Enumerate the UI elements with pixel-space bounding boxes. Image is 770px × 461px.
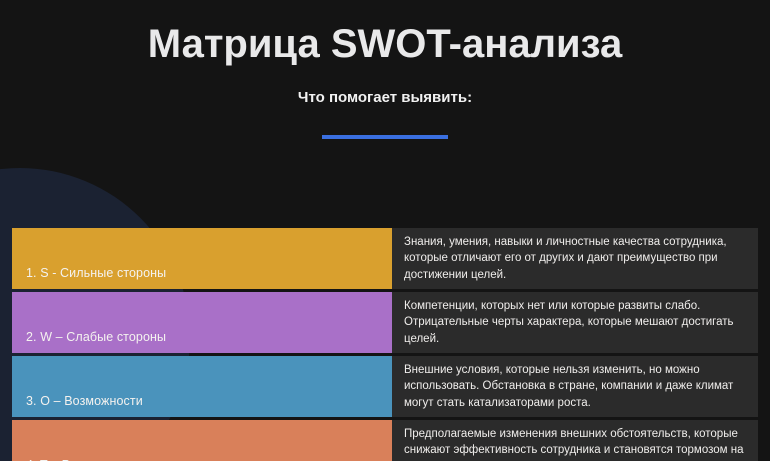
swot-description-strengths: Знания, умения, навыки и личностные каче… [389,228,758,289]
slide-subtitle: Что помогает выявить: [0,89,770,106]
table-row: 1. S - Сильные стороны Знания, умения, н… [12,228,758,289]
swot-category-opportunities: 3. O – Возможности [12,356,389,417]
swot-category-threats: 4. T – Риски [12,420,389,461]
page-title: Матрица SWOT-анализа [105,0,665,71]
accent-divider [322,135,448,139]
table-row: 2. W – Слабые стороны Компетенции, котор… [12,292,758,353]
swot-category-strengths: 1. S - Сильные стороны [12,228,389,289]
table-row: 4. T – Риски Предполагаемые изменения вн… [12,420,758,461]
swot-description-weaknesses: Компетенции, которых нет или которые раз… [389,292,758,353]
swot-matrix-table: 1. S - Сильные стороны Знания, умения, н… [12,225,758,461]
swot-category-weaknesses: 2. W – Слабые стороны [12,292,389,353]
table-row: 3. O – Возможности Внешние условия, кото… [12,356,758,417]
swot-slide: Матрица SWOT-анализа Что помогает выявит… [0,0,770,461]
divider-container [0,135,770,139]
swot-description-threats: Предполагаемые изменения внешних обстоят… [389,420,758,461]
slide-header: Матрица SWOT-анализа Что помогает выявит… [0,0,770,139]
swot-description-opportunities: Внешние условия, которые нельзя изменить… [389,356,758,417]
